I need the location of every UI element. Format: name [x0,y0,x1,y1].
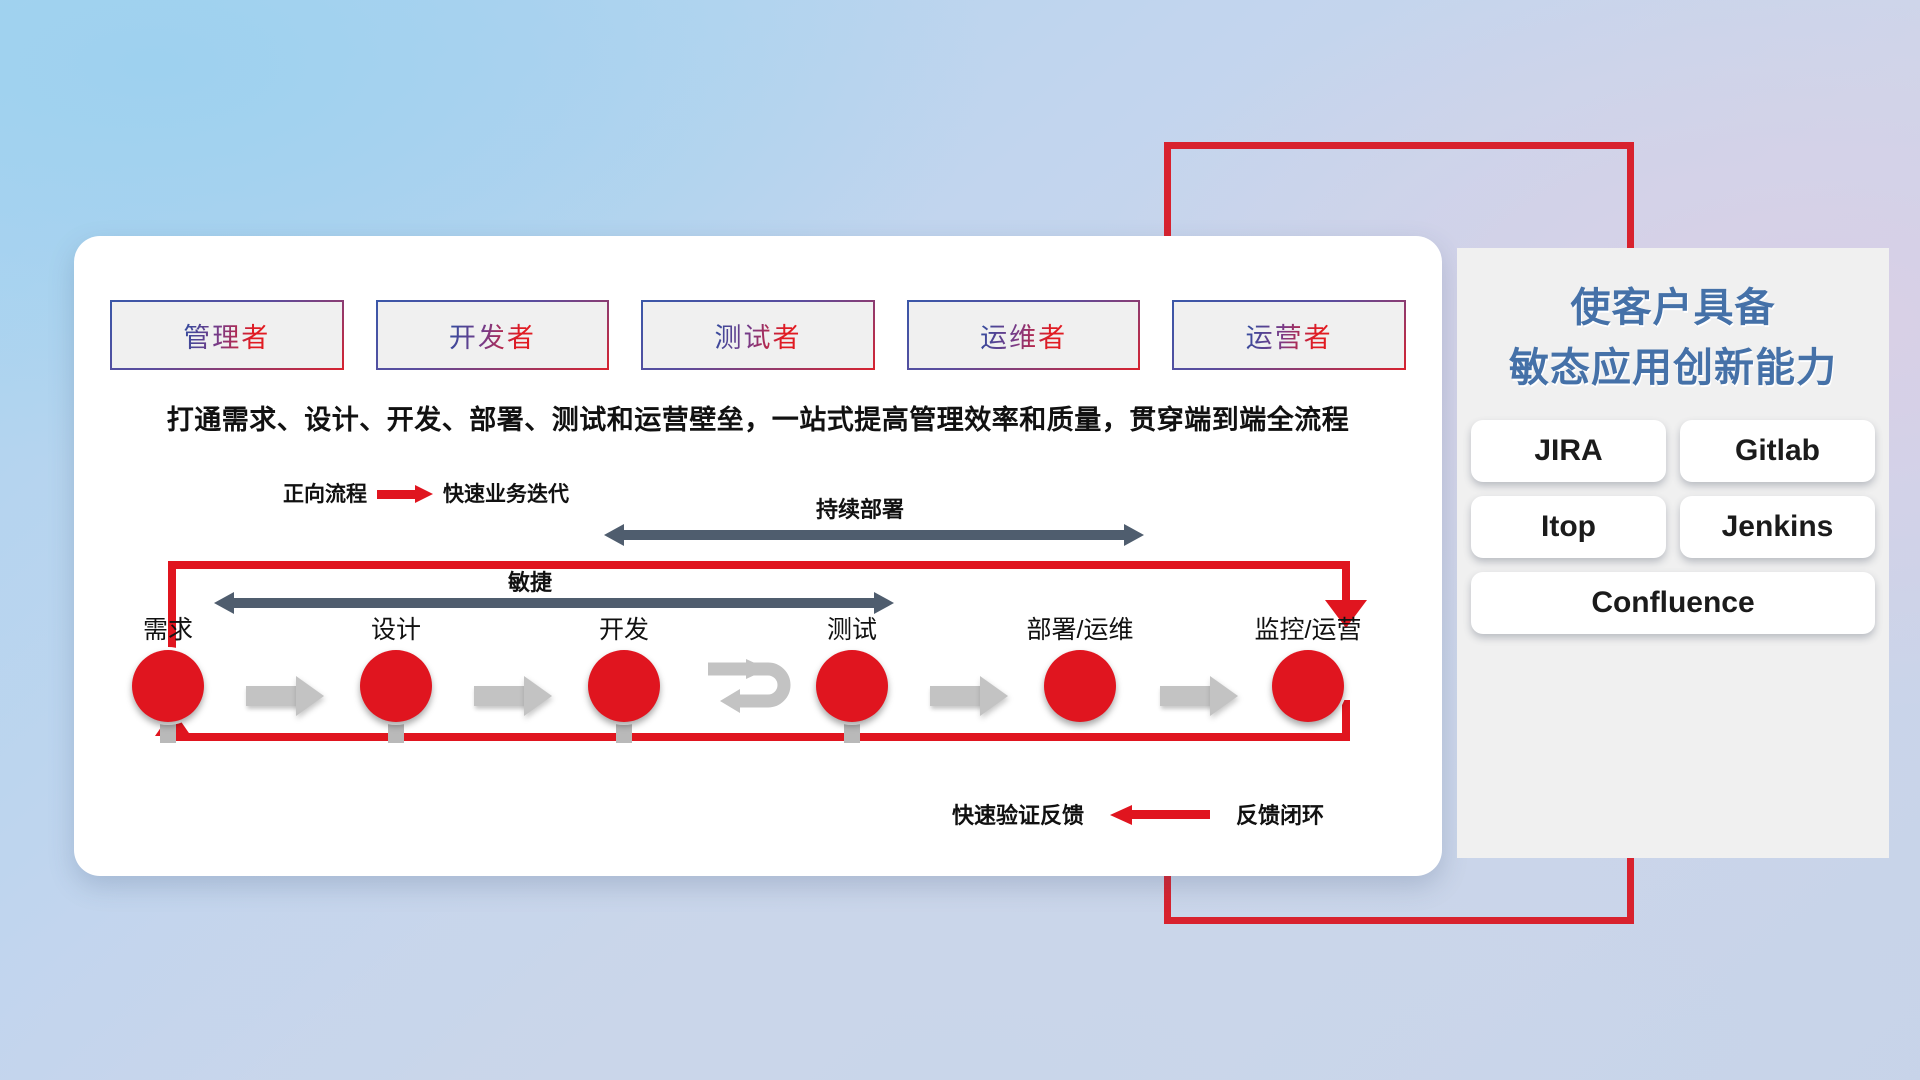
description-text: 打通需求、设计、开发、部署、测试和运营壁垒，一站式提高管理效率和质量，贯穿端到端… [74,398,1442,437]
slide-canvas: 管理者 开发者 测试者 运维者 运营者 打通需求、设计、开发、部署、测试和运营壁… [0,0,1920,1080]
stage-dot [588,650,660,722]
role-label: 运维者 [980,316,1067,355]
tool-button-jenkins[interactable]: Jenkins [1680,496,1875,558]
forward-flow-legend: 正向流程 快速业务迭代 [283,478,569,508]
forward-flow-left-label: 正向流程 [283,478,367,508]
iteration-loop-icon [706,655,804,717]
stage-node-monitor-operations[interactable]: 监控/运营 [1233,610,1383,722]
role-label: 管理者 [183,316,270,355]
chevron-arrow-1-icon [246,676,324,716]
tool-button-gitlab[interactable]: Gitlab [1680,420,1875,482]
role-label: 测试者 [714,316,801,355]
stage-node-deploy-ops[interactable]: 部署/运维 [1005,610,1155,722]
stage-node-design[interactable]: 设计 [321,610,471,722]
panel-title: 使客户具备 敏态应用创新能力 [1457,248,1889,398]
stage-label: 需求 [93,610,243,646]
stage-dot [132,650,204,722]
tool-button-confluence[interactable]: Confluence [1471,572,1875,634]
stage-dot [816,650,888,722]
stage-node-requirement[interactable]: 需求 [93,610,243,722]
feedback-loop-top-line [168,561,1350,569]
stage-dot [1272,650,1344,722]
role-label: 开发者 [449,316,536,355]
role-box-manager[interactable]: 管理者 [110,300,344,370]
stage-label: 监控/运营 [1233,610,1383,646]
chevron-arrow-2-icon [474,676,552,716]
panel-title-line-2: 敏态应用创新能力 [1467,338,1879,398]
role-box-ops[interactable]: 运维者 [907,300,1141,370]
chevron-arrow-3-icon [930,676,1008,716]
continuous-deployment-arrow-icon [604,524,1144,546]
continuous-deployment-label: 持续部署 [680,492,1040,524]
stage-dot [1044,650,1116,722]
role-box-operations[interactable]: 运营者 [1172,300,1406,370]
feedback-legend: 快速验证反馈 反馈闭环 [952,798,1324,830]
chevron-arrow-4-icon [1160,676,1238,716]
tool-button-itop[interactable]: Itop [1471,496,1666,558]
stage-node-development[interactable]: 开发 [549,610,699,722]
tool-list: JIRA Gitlab Itop Jenkins Confluence [1457,420,1889,634]
arrow-left-red-icon [1110,805,1210,823]
stage-label: 开发 [549,610,699,646]
tool-button-jira[interactable]: JIRA [1471,420,1666,482]
arrow-right-red-icon [377,485,433,501]
stage-dot [360,650,432,722]
stage-label: 设计 [321,610,471,646]
panel-title-line-1: 使客户具备 [1467,278,1879,338]
role-box-row: 管理者 开发者 测试者 运维者 运营者 [110,300,1406,370]
feedback-right-label: 反馈闭环 [1236,798,1324,830]
stage-label: 部署/运维 [1005,610,1155,646]
capability-panel: 使客户具备 敏态应用创新能力 JIRA Gitlab Itop Jenkins … [1457,248,1889,858]
role-box-developer[interactable]: 开发者 [376,300,610,370]
role-label: 运营者 [1246,316,1333,355]
feedback-left-label: 快速验证反馈 [952,798,1084,830]
stage-label: 测试 [777,610,927,646]
forward-flow-right-label: 快速业务迭代 [443,478,569,508]
role-box-tester[interactable]: 测试者 [641,300,875,370]
